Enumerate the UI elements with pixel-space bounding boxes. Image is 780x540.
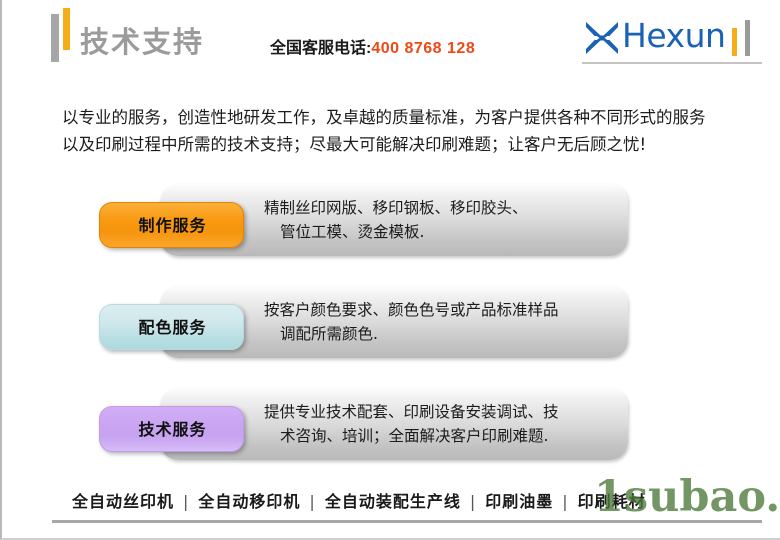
footer-separator: | [553,492,577,511]
hexun-wordmark: Hexun [622,16,725,56]
footer-separator: | [174,492,198,511]
site-watermark: 1subao.net [594,472,780,522]
logo-accent-bar-gray [745,20,750,56]
service-description-line-1: 按客户颜色要求、颜色色号或产品标准样品 [264,298,616,322]
service-description: 按客户颜色要求、颜色色号或产品标准样品 调配所需颜色. [264,298,616,346]
service-row: 提供专业技术配套、印刷设备安装调试、技 术咨询、培训；全面解决客户印刷难题. 技… [2,380,780,482]
header-accent-bar-orange [63,8,70,50]
footer-separator: | [461,492,485,511]
service-description: 提供专业技术配套、印刷设备安装调试、技 术咨询、培训；全面解决客户印刷难题. [264,400,616,448]
service-button-production[interactable]: 制作服务 [99,202,244,248]
service-button-label: 制作服务 [100,203,245,249]
service-row: 精制丝印网版、移印钢板、移印胶头、 管位工模、烫金模板. 制作服务 [2,176,780,278]
footer-item-2[interactable]: 全自动装配生产线 [325,492,461,511]
service-button-label: 技术服务 [100,407,245,453]
service-button-label: 配色服务 [100,305,245,351]
hotline-number: 400 8768 128 [371,40,475,57]
service-button-technical[interactable]: 技术服务 [99,406,244,452]
service-description-line-2: 术咨询、培训；全面解决客户印刷难题. [264,424,616,448]
service-description: 精制丝印网版、移印钢板、移印胶头、 管位工模、烫金模板. [264,196,616,244]
footer-item-1[interactable]: 全自动移印机 [198,492,300,511]
intro-line-1: 以专业的服务，创造性地研发工作，及卓越的质量标准，为客户提供各种不同形式的服务 [62,108,706,127]
slide-page: 技术支持 全国客服电话:400 8768 128 Hexun 以专业的服务，创造… [0,0,780,540]
page-title: 技术支持 [80,19,204,61]
service-button-color-matching[interactable]: 配色服务 [99,304,244,350]
service-description-line-2: 调配所需颜色. [264,322,616,346]
service-description-line-1: 精制丝印网版、移印钢板、移印胶头、 [264,196,616,220]
footer-item-0[interactable]: 全自动丝印机 [72,492,174,511]
service-description-line-1: 提供专业技术配套、印刷设备安装调试、技 [264,400,616,424]
footer-product-list: 全自动丝印机|全自动移印机|全自动装配生产线|印刷油墨|印刷耗材 [72,488,646,512]
intro-line-2: 以及印刷过程中所需的技术支持；尽最大可能解决印刷难题；让客户无后顾之忧! [62,135,646,154]
intro-paragraph: 以专业的服务，创造性地研发工作，及卓越的质量标准，为客户提供各种不同形式的服务 … [62,104,762,158]
logo-accent-bar-orange [732,28,737,56]
footer-item-3[interactable]: 印刷油墨 [485,492,553,511]
hotline: 全国客服电话:400 8768 128 [270,34,475,58]
logo-underline [582,62,762,64]
header-accent-bar-gray [51,14,59,62]
hexun-logo: Hexun [582,14,767,68]
service-description-line-2: 管位工模、烫金模板. [264,220,616,244]
page-header: 技术支持 全国客服电话:400 8768 128 Hexun [2,0,780,86]
service-list: 精制丝印网版、移印钢板、移印胶头、 管位工模、烫金模板. 制作服务 按客户颜色要… [2,176,780,482]
hexun-x-mark-icon [582,18,622,58]
footer-separator: | [300,492,324,511]
hotline-label: 全国客服电话: [270,40,371,57]
service-row: 按客户颜色要求、颜色色号或产品标准样品 调配所需颜色. 配色服务 [2,278,780,380]
